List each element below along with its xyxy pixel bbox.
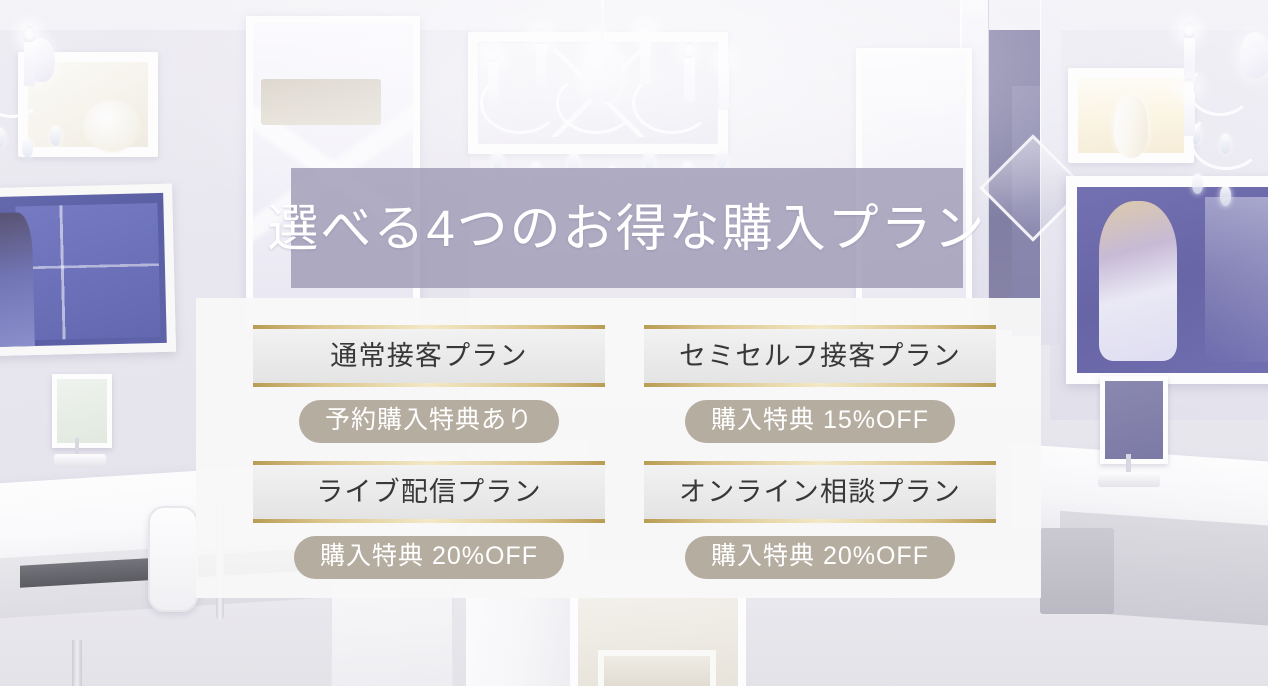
plan-card-2[interactable]: セミセルフ接客プラン 購入特典 15%OFF <box>644 325 996 437</box>
stool-footrest <box>598 650 716 686</box>
plan-card-1-title: 通常接客プラン <box>330 343 527 370</box>
framed-photo-left <box>0 184 176 357</box>
desk-mirror-right-stand <box>1126 454 1131 474</box>
plan-card-1[interactable]: 通常接客プラン 予約購入特典あり <box>253 325 605 437</box>
framed-photo-right <box>1066 176 1268 384</box>
desk-mirror-left <box>52 374 112 448</box>
plan-card-4[interactable]: オンライン相談プラン 購入特典 20%OFF <box>644 461 996 573</box>
salon-chair <box>148 506 198 612</box>
banner-stage: 選べる4つのお得な購入プラン 通常接客プラン 予約購入特典あり セミセルフ接客プ… <box>0 0 1268 686</box>
plans-grid: 通常接客プラン 予約購入特典あり セミセルフ接客プラン 購入特典 15%OFF … <box>253 325 996 573</box>
desk-mirror-right <box>1100 376 1168 464</box>
plan-card-2-header: セミセルフ接客プラン <box>644 325 996 387</box>
plan-card-2-title: セミセルフ接客プラン <box>679 343 961 370</box>
salon-chair-pole <box>72 640 82 686</box>
page-title: 選べる4つのお得な購入プラン <box>267 203 986 254</box>
framed-mirror-top-left <box>18 52 158 157</box>
plan-card-1-header: 通常接客プラン <box>253 325 605 387</box>
storage-bin <box>1040 528 1114 614</box>
plan-card-3-title: ライブ配信プラン <box>316 479 542 506</box>
desk-mirror-right-base <box>1098 472 1160 487</box>
plans-panel: 通常接客プラン 予約購入特典あり セミセルフ接客プラン 購入特典 15%OFF … <box>196 298 1041 598</box>
plan-card-4-header: オンライン相談プラン <box>644 461 996 523</box>
plan-card-3-benefit-badge: 購入特典 20%OFF <box>294 536 564 579</box>
framed-niche-vase <box>1068 68 1194 163</box>
plan-card-4-title: オンライン相談プラン <box>679 479 961 506</box>
desk-mirror-left-base <box>54 454 106 467</box>
plan-card-2-benefit-badge: 購入特典 15%OFF <box>685 400 955 443</box>
framed-mirror-center <box>468 32 728 154</box>
plan-card-3[interactable]: ライブ配信プラン 購入特典 20%OFF <box>253 461 605 573</box>
plan-card-1-benefit-badge: 予約購入特典あり <box>299 400 559 443</box>
plan-card-3-header: ライブ配信プラン <box>253 461 605 523</box>
plan-card-4-benefit-badge: 購入特典 20%OFF <box>685 536 955 579</box>
headline-band: 選べる4つのお得な購入プラン <box>291 168 963 288</box>
